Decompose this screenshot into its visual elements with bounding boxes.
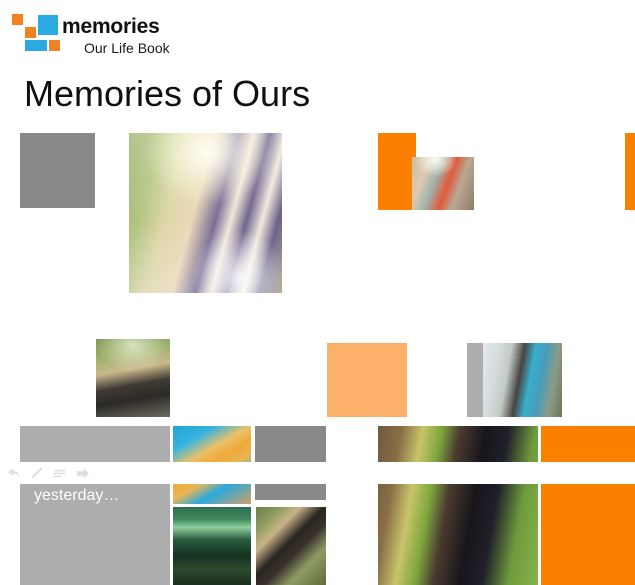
orange-block-lower-right <box>541 426 635 585</box>
grey-block-upper-left <box>20 133 95 208</box>
logo-blue-square-large <box>38 15 58 35</box>
logo-orange-square-middle <box>25 27 36 38</box>
pencil-icon[interactable] <box>29 466 44 480</box>
orange-light-block-middle <box>327 343 407 417</box>
logo-orange-square-bottom-right <box>49 40 60 51</box>
logo-tagline: Our Life Book <box>84 40 170 56</box>
photo-woman-picking-litter <box>378 426 538 585</box>
forward-arrow-icon[interactable] <box>75 466 90 480</box>
photo-banquet-table <box>173 507 251 585</box>
logo-mark <box>12 14 58 52</box>
bottom-toolbar[interactable] <box>0 462 635 484</box>
photo-boy-glasses-grass <box>256 507 326 585</box>
logo-wordmark: memories <box>62 15 160 39</box>
page-title: Memories of Ours <box>24 72 310 116</box>
photo-collage: It was only yesterday… <box>0 126 635 460</box>
grey-sliver-middle <box>467 343 483 417</box>
photo-boy-sunglasses <box>96 339 170 417</box>
photo-person-teal-shirt <box>483 343 562 417</box>
brand-logo: memories Our Life Book <box>0 0 320 66</box>
back-arrow-icon[interactable] <box>6 466 21 480</box>
logo-blue-rectangle-bottom <box>25 40 47 51</box>
orange-block-right-edge-top <box>625 133 635 210</box>
menu-lines-icon[interactable] <box>52 466 67 480</box>
photo-two-friends-sunlit <box>129 133 282 293</box>
logo-orange-square-top-left <box>12 14 23 25</box>
photo-group-wall-outdoor <box>412 157 474 210</box>
orange-block-upper-middle <box>378 133 416 210</box>
quote-block: It was only yesterday… <box>20 426 170 585</box>
